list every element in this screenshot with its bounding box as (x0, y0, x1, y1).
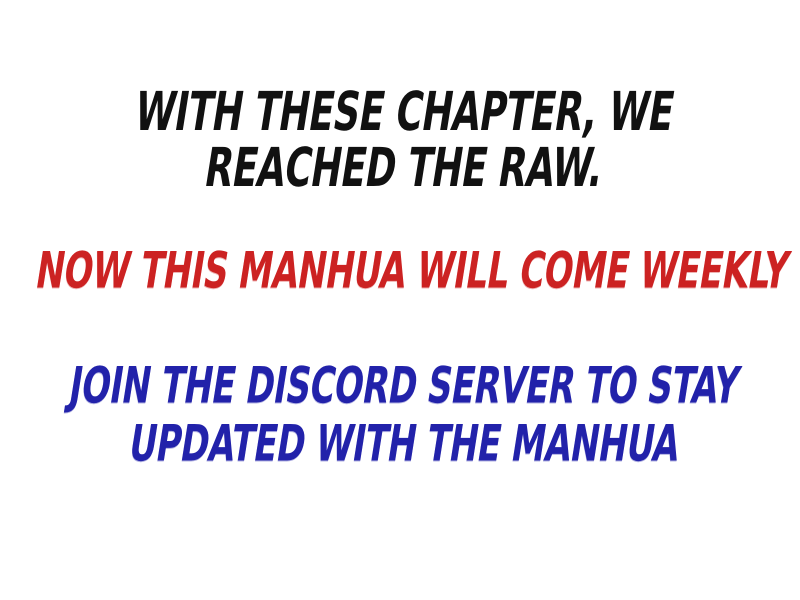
announcement-text: reached the raw. (202, 142, 607, 196)
announcement-text: With these chapter, we (131, 86, 677, 140)
announcement-line-weekly-release: Now this manhua will come weekly (0, 255, 800, 296)
announcement-line-discord-invite-2: updated with the manhua (0, 428, 800, 469)
announcement-text: updated with the manhua (125, 419, 682, 469)
announcement-line-discord-invite-1: Join the discord server to stay (0, 370, 800, 411)
announcement-line-chapter-raw-2: reached the raw. (0, 152, 800, 196)
announcement-line-chapter-raw-1: With these chapter, we (0, 96, 800, 140)
announcement-text: Join the discord server to stay (66, 361, 742, 411)
announcement-page: With these chapter, we reached the raw. … (0, 0, 800, 600)
announcement-text: Now this manhua will come weekly (33, 246, 792, 296)
